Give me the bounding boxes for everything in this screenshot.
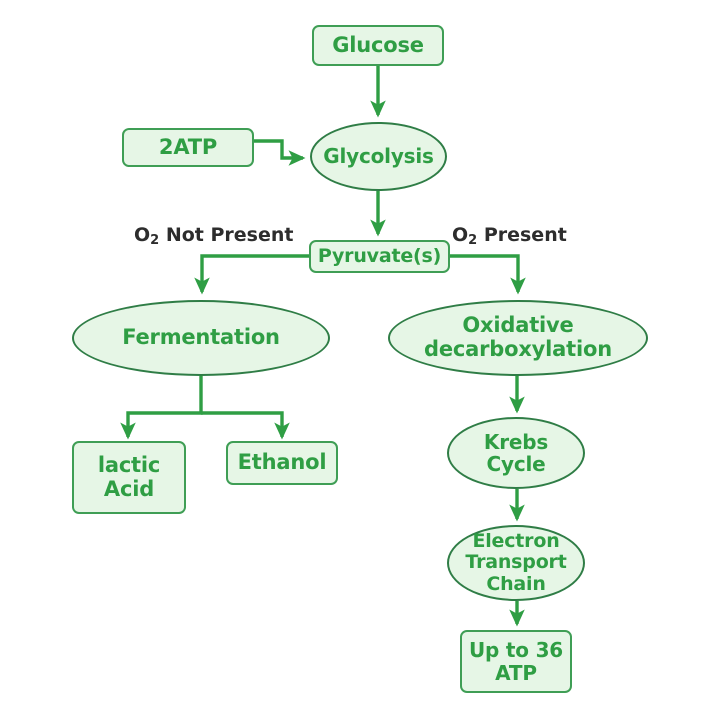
node-ethanol[interactable]: Ethanol [226,441,338,485]
edge-pyruvate-to-fermentation [202,256,309,292]
node-up-to-36-atp[interactable]: Up to 36 ATP [460,630,572,693]
edge-label-with-oxygen-suffix: Present [477,224,567,246]
node-glycolysis[interactable]: Glycolysis [310,122,447,191]
edge-label-no-oxygen: O2 Not Present [134,224,293,246]
node-2atp[interactable]: 2ATP [122,128,254,167]
edge-label-with-oxygen-prefix: O [452,224,468,246]
edge-label-with-oxygen-subscript: 2 [468,233,477,248]
edge-fermentation-to-lactic-acid [128,376,201,437]
edge-2atp-to-glycolysis [254,141,303,158]
edge-label-no-oxygen-prefix: O [134,224,150,246]
node-glucose[interactable]: Glucose [312,25,444,66]
edge-fermentation-to-ethanol [201,413,282,437]
edge-pyruvate-to-oxidative [450,256,518,292]
node-pyruvate[interactable]: Pyruvate(s) [309,240,450,273]
node-fermentation[interactable]: Fermentation [72,300,330,376]
edge-label-no-oxygen-subscript: 2 [150,233,159,248]
node-krebs-cycle[interactable]: Krebs Cycle [447,417,585,489]
edge-label-with-oxygen: O2 Present [452,224,567,246]
node-electron-transport-chain[interactable]: Electron Transport Chain [447,525,585,601]
edge-label-no-oxygen-suffix: Not Present [159,224,293,246]
flowchart-canvas: Glucose 2ATP Glycolysis Pyruvate(s) Ferm… [0,0,720,720]
node-lactic-acid[interactable]: lactic Acid [72,441,186,514]
node-oxidative-decarboxylation[interactable]: Oxidative decarboxylation [388,300,648,376]
